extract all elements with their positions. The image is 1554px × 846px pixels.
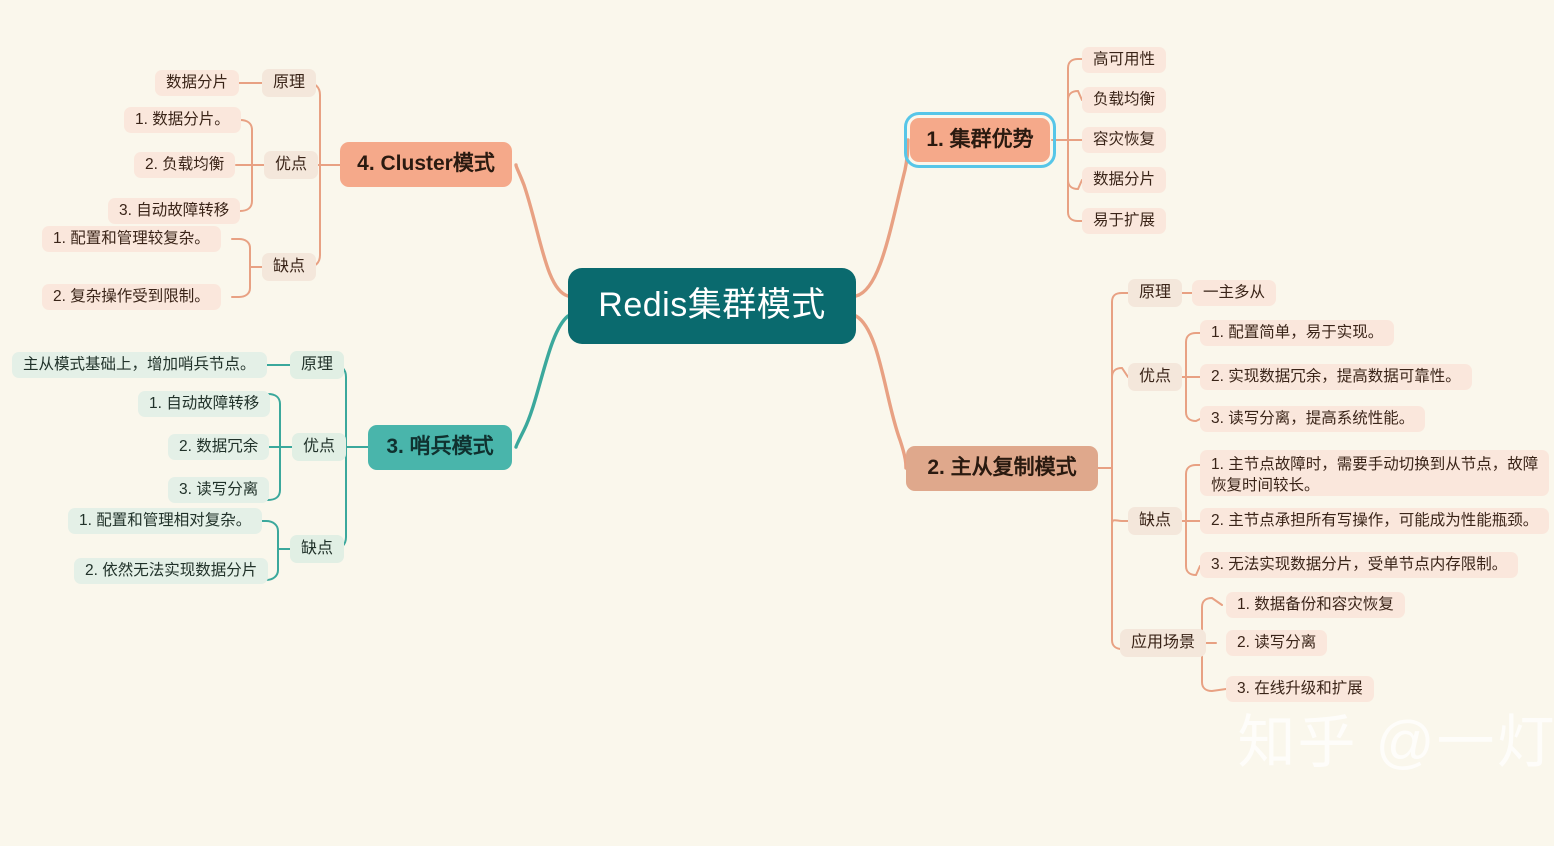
leaf-label: 2. 主节点承担所有写操作，可能成为性能瓶颈。	[1211, 511, 1538, 532]
leaf-label: 易于扩展	[1093, 211, 1155, 232]
leaf-label: 容灾恢复	[1093, 130, 1155, 151]
leaf-label: 2. 读写分离	[1237, 633, 1316, 654]
replication-pros-item[interactable]: 1. 配置简单，易于实现。	[1200, 320, 1394, 346]
leaf-label: 2. 复杂操作受到限制。	[53, 287, 210, 308]
leaf-label: 2. 依然无法实现数据分片	[85, 561, 257, 582]
leaf-label: 1. 配置和管理相对复杂。	[79, 511, 251, 532]
sentinel-cons-item[interactable]: 2. 依然无法实现数据分片	[74, 558, 268, 584]
leaf-label: 3. 读写分离	[179, 480, 258, 501]
leaf-label: 1. 数据备份和容灾恢复	[1237, 595, 1394, 616]
main-topic-cluster-label: 4. Cluster模式	[357, 150, 495, 178]
sentinel-mid-cons[interactable]: 缺点	[290, 535, 344, 563]
sentinel-principle-item[interactable]: 主从模式基础上，增加哨兵节点。	[12, 352, 267, 378]
leaf-label: 1. 主节点故障时，需要手动切换到从节点，故障 恢复时间较长。	[1211, 455, 1538, 497]
leaf-label: 2. 实现数据冗余，提高数据可靠性。	[1211, 367, 1461, 388]
replication-mid-pros-label: 优点	[1139, 366, 1171, 388]
replication-scenario-item[interactable]: 2. 读写分离	[1226, 630, 1327, 656]
cluster-cons-item[interactable]: 1. 配置和管理较复杂。	[42, 226, 221, 252]
replication-cons-item[interactable]: 3. 无法实现数据分片，受单节点内存限制。	[1200, 552, 1518, 578]
replication-mid-cons-label: 缺点	[1139, 510, 1171, 532]
leaf-label: 2. 负载均衡	[145, 155, 224, 176]
sentinel-mid-cons-label: 缺点	[301, 538, 333, 560]
leaf-label: 1. 配置简单，易于实现。	[1211, 323, 1383, 344]
main-topic-sentinel-label: 3. 哨兵模式	[386, 433, 493, 461]
replication-pros-item[interactable]: 2. 实现数据冗余，提高数据可靠性。	[1200, 364, 1472, 390]
leaf-label: 3. 在线升级和扩展	[1237, 679, 1363, 700]
replication-mid-principle[interactable]: 原理	[1128, 279, 1182, 307]
advantages-item[interactable]: 易于扩展	[1082, 208, 1166, 234]
sentinel-cons-item[interactable]: 1. 配置和管理相对复杂。	[68, 508, 262, 534]
advantages-item[interactable]: 数据分片	[1082, 167, 1166, 193]
mindmap-canvas: Redis集群模式 4. Cluster模式 原理 优点 缺点 数据分片 1. …	[0, 0, 1554, 734]
leaf-label: 3. 无法实现数据分片，受单节点内存限制。	[1211, 555, 1507, 576]
watermark-text: 知乎 @一灯架构	[1237, 710, 1554, 775]
watermark: 知乎 @一灯架构	[1165, 628, 1554, 846]
root-node[interactable]: Redis集群模式	[568, 268, 856, 344]
replication-principle-item[interactable]: 一主多从	[1192, 280, 1276, 306]
leaf-label: 1. 自动故障转移	[149, 394, 259, 415]
cluster-mid-principle[interactable]: 原理	[262, 69, 316, 97]
main-topic-advantages-label: 1. 集群优势	[926, 126, 1033, 154]
replication-cons-item[interactable]: 1. 主节点故障时，需要手动切换到从节点，故障 恢复时间较长。	[1200, 450, 1549, 496]
cluster-principle-item[interactable]: 数据分片	[155, 70, 239, 96]
replication-mid-scenarios[interactable]: 应用场景	[1120, 629, 1206, 657]
leaf-label: 数据分片	[166, 73, 228, 94]
replication-mid-scenarios-label: 应用场景	[1131, 632, 1195, 654]
leaf-label: 负载均衡	[1093, 90, 1155, 111]
leaf-label: 1. 配置和管理较复杂。	[53, 229, 210, 250]
sentinel-pros-item[interactable]: 2. 数据冗余	[168, 434, 269, 460]
main-topic-replication[interactable]: 2. 主从复制模式	[906, 446, 1098, 491]
root-label: Redis集群模式	[598, 283, 825, 329]
main-topic-cluster[interactable]: 4. Cluster模式	[340, 142, 512, 187]
leaf-label: 主从模式基础上，增加哨兵节点。	[23, 355, 256, 376]
cluster-pros-item[interactable]: 3. 自动故障转移	[108, 198, 240, 224]
replication-mid-principle-label: 原理	[1139, 282, 1171, 304]
advantages-item[interactable]: 容灾恢复	[1082, 127, 1166, 153]
cluster-mid-cons[interactable]: 缺点	[262, 253, 316, 281]
sentinel-mid-pros[interactable]: 优点	[292, 433, 346, 461]
advantages-item[interactable]: 负载均衡	[1082, 87, 1166, 113]
replication-cons-item[interactable]: 2. 主节点承担所有写操作，可能成为性能瓶颈。	[1200, 508, 1549, 534]
leaf-label: 1. 数据分片。	[135, 110, 230, 131]
sentinel-pros-item[interactable]: 3. 读写分离	[168, 477, 269, 503]
cluster-mid-principle-label: 原理	[273, 72, 305, 94]
leaf-label: 3. 自动故障转移	[119, 201, 229, 222]
cluster-mid-cons-label: 缺点	[273, 256, 305, 278]
replication-scenario-item[interactable]: 1. 数据备份和容灾恢复	[1226, 592, 1405, 618]
replication-pros-item[interactable]: 3. 读写分离，提高系统性能。	[1200, 406, 1425, 432]
replication-mid-cons[interactable]: 缺点	[1128, 507, 1182, 535]
cluster-pros-item[interactable]: 1. 数据分片。	[124, 107, 241, 133]
cluster-mid-pros-label: 优点	[275, 154, 307, 176]
main-topic-replication-label: 2. 主从复制模式	[927, 454, 1076, 482]
replication-mid-pros[interactable]: 优点	[1128, 363, 1182, 391]
leaf-label: 数据分片	[1093, 170, 1155, 191]
sentinel-mid-principle[interactable]: 原理	[290, 351, 344, 379]
cluster-cons-item[interactable]: 2. 复杂操作受到限制。	[42, 284, 221, 310]
cluster-mid-pros[interactable]: 优点	[264, 151, 318, 179]
replication-scenario-item[interactable]: 3. 在线升级和扩展	[1226, 676, 1374, 702]
leaf-label: 2. 数据冗余	[179, 437, 258, 458]
advantages-item[interactable]: 高可用性	[1082, 47, 1166, 73]
leaf-label: 一主多从	[1203, 283, 1265, 304]
cluster-pros-item[interactable]: 2. 负载均衡	[134, 152, 235, 178]
leaf-label: 3. 读写分离，提高系统性能。	[1211, 409, 1414, 430]
sentinel-pros-item[interactable]: 1. 自动故障转移	[138, 391, 270, 417]
sentinel-mid-pros-label: 优点	[303, 436, 335, 458]
main-topic-advantages[interactable]: 1. 集群优势	[910, 118, 1050, 162]
sentinel-mid-principle-label: 原理	[301, 354, 333, 376]
leaf-label: 高可用性	[1093, 50, 1155, 71]
main-topic-sentinel[interactable]: 3. 哨兵模式	[368, 425, 512, 470]
